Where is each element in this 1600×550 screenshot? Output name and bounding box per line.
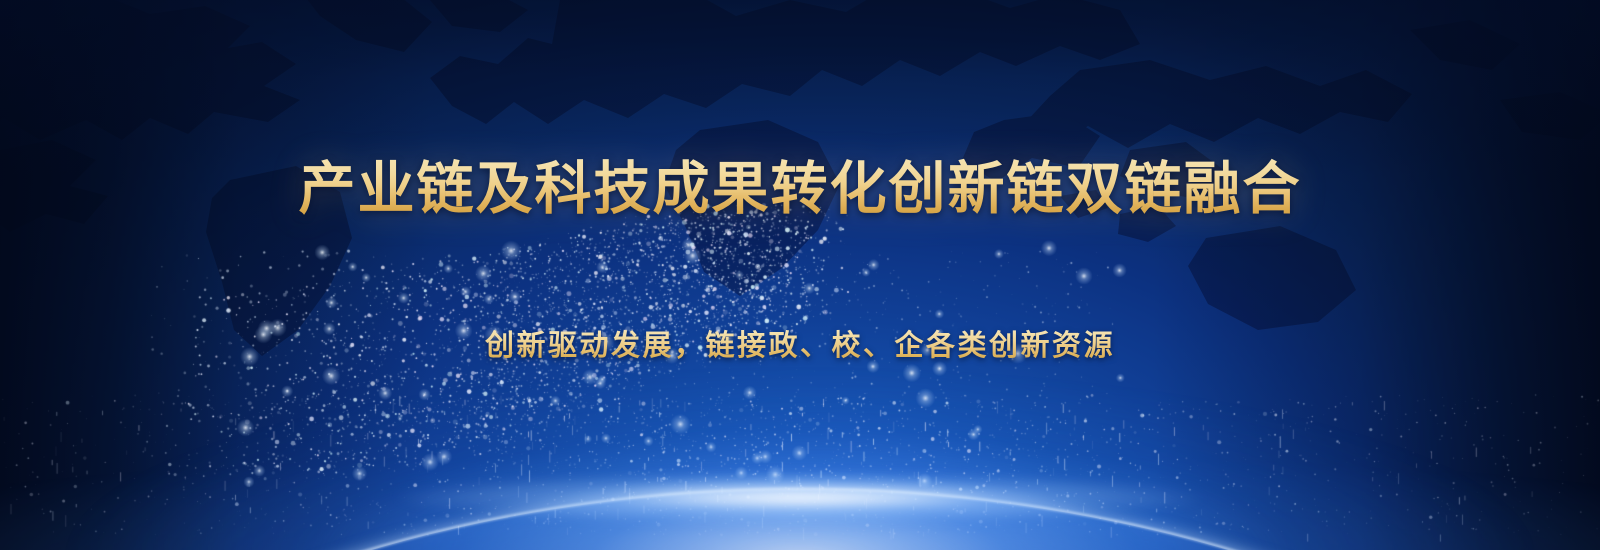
hero-banner: 产业链及科技成果转化创新链双链融合 创新驱动发展，链接政、校、企各类创新资源 (0, 0, 1600, 550)
subheadline-container: 创新驱动发展，链接政、校、企各类创新资源 (0, 328, 1600, 363)
horizon-core-glow (390, 462, 1210, 522)
banner-headline: 产业链及科技成果转化创新链双链融合 (299, 158, 1302, 222)
headline-container: 产业链及科技成果转化创新链双链融合 (0, 158, 1600, 222)
banner-subheadline: 创新驱动发展，链接政、校、企各类创新资源 (485, 328, 1115, 363)
